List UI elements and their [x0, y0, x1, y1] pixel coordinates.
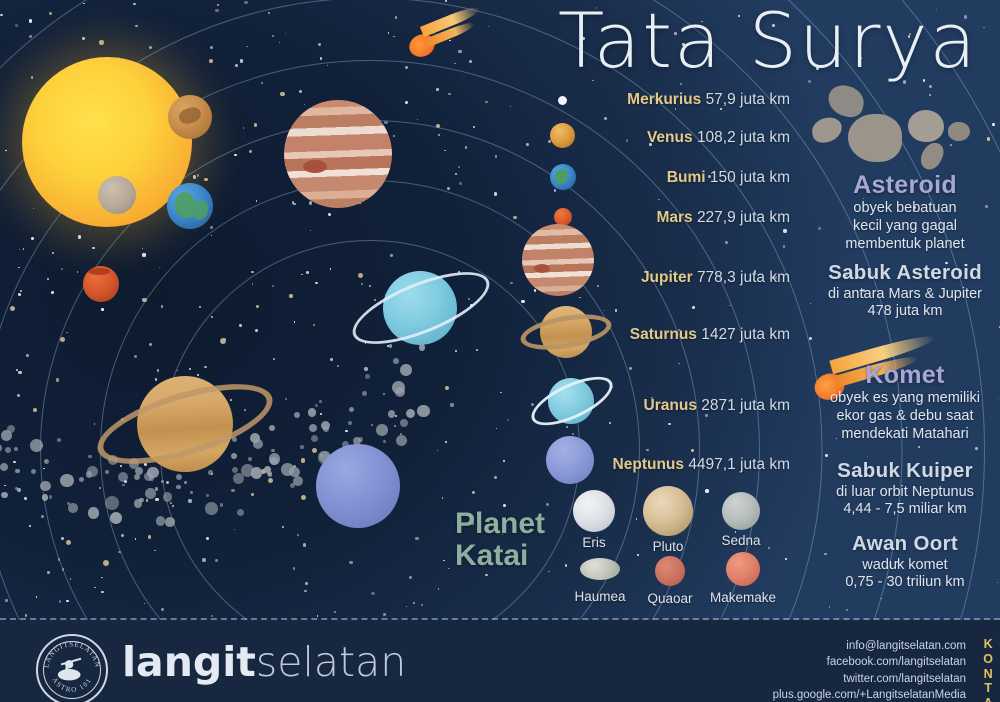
- sabuk-asteroid-body: di antara Mars & Jupiter 478 juta km: [812, 286, 998, 321]
- section-sabuk-kuiper: Sabuk Kuiper di luar orbit Neptunus 4,44…: [812, 460, 998, 519]
- planet-jupiter-illustration: [284, 100, 392, 208]
- infographic-poster: Tata Surya Merkurius 57,9 juta km Venus …: [0, 0, 1000, 702]
- contact-item[interactable]: info@langitselatan.com: [773, 638, 966, 654]
- planet-name: Bumi: [667, 169, 706, 186]
- awan-oort-heading: Awan Oort: [812, 533, 998, 555]
- planet-name: Uranus: [644, 397, 697, 414]
- contact-item[interactable]: plus.google.com/+LangitselatanMedia: [773, 687, 966, 702]
- planet-name: Jupiter: [641, 269, 693, 286]
- asteroid-heading: Asteroid: [812, 172, 998, 198]
- page-title: Tata Surya: [558, 0, 978, 85]
- planet-distance: 4497,1 juta km: [688, 456, 790, 473]
- dwarf-planets-title: Planet Katai: [455, 508, 545, 573]
- dwarf-planet-quaoar: Quaoar: [639, 556, 701, 606]
- venus-icon: [550, 123, 575, 148]
- planet-name: Merkurius: [627, 91, 701, 108]
- awan-oort-body: waduk komet 0,75 - 30 triliun km: [812, 557, 998, 592]
- komet-heading: Komet: [812, 362, 998, 388]
- planet-neptune-illustration: [316, 444, 400, 528]
- brand-light: selatan: [256, 638, 406, 686]
- planet-name: Venus: [647, 129, 693, 146]
- dwarf-planet-label: Sedna: [709, 533, 773, 548]
- jupiter-icon: [522, 224, 594, 296]
- dwarf-planet-haumea: Haumea: [568, 558, 632, 604]
- sabuk-kuiper-body: di luar orbit Neptunus 4,44 - 7,5 miliar…: [812, 484, 998, 519]
- mars-polar-cap: [88, 268, 110, 275]
- planet-name: Saturnus: [630, 326, 697, 343]
- section-sabuk-asteroid: Sabuk Asteroid di antara Mars & Jupiter …: [812, 262, 998, 321]
- neptunus-icon: [546, 436, 594, 484]
- dwarf-planet-label: Quaoar: [639, 591, 701, 606]
- quaoar-icon: [655, 556, 685, 586]
- planet-distance: 150 juta km: [710, 169, 790, 186]
- jupiter-great-red-spot: [303, 160, 327, 173]
- komet-body: obyek es yang memiliki ekor gas & debu s…: [812, 390, 998, 443]
- dwarf-planet-label: Makemake: [706, 590, 780, 605]
- contact-list: info@langitselatan.com facebook.com/lang…: [773, 638, 966, 702]
- dwarf-planet-label: Eris: [563, 535, 625, 550]
- brand-wordmark: langitselatan: [122, 642, 406, 683]
- langitselatan-seal-logo: LANGITSELATAN ASTRO 101: [36, 634, 108, 702]
- kontak-vertical-label: KONTAK: [983, 637, 994, 702]
- planet-distance: 778,3 juta km: [697, 269, 790, 286]
- sabuk-asteroid-heading: Sabuk Asteroid: [812, 262, 998, 284]
- dwarf-planet-pluto: Pluto: [635, 486, 701, 554]
- planet-distance: 108,2 juta km: [697, 129, 790, 146]
- asteroid-body: obyek bebatuan kecil yang gagal membentu…: [812, 200, 998, 253]
- section-asteroid: Asteroid obyek bebatuan kecil yang gagal…: [812, 172, 998, 253]
- planet-distance: 1427 juta km: [701, 326, 790, 343]
- planet-mercury-illustration: [98, 176, 136, 214]
- planet-distance: 2871 juta km: [701, 397, 790, 414]
- dwarf-planet-label: Haumea: [568, 589, 632, 604]
- brand-bold: langit: [122, 638, 256, 686]
- merkurius-icon: [558, 96, 567, 105]
- dwarf-planet-sedna: Sedna: [709, 492, 773, 548]
- contact-item[interactable]: twitter.com/langitselatan: [773, 671, 966, 687]
- dwarf-planet-makemake: Makemake: [706, 552, 780, 605]
- planet-name: Neptunus: [613, 456, 684, 473]
- jupiter-red-spot-icon: [534, 264, 550, 273]
- planet-distance: 227,9 juta km: [697, 209, 790, 226]
- planet-name: Mars: [656, 209, 692, 226]
- section-awan-oort: Awan Oort waduk komet 0,75 - 30 triliun …: [812, 533, 998, 592]
- footer: LANGITSELATAN ASTRO 101 langitselatan in…: [0, 620, 1000, 702]
- makemake-icon: [726, 552, 760, 586]
- dwarf-planet-label: Pluto: [635, 539, 701, 554]
- planet-distance: 57,9 juta km: [706, 91, 790, 108]
- seal-emblem-icon: [58, 658, 81, 681]
- sabuk-kuiper-heading: Sabuk Kuiper: [812, 460, 998, 482]
- pluto-icon: [643, 486, 693, 536]
- eris-icon: [573, 490, 615, 532]
- dwarf-planet-eris: Eris: [563, 490, 625, 550]
- haumea-icon: [580, 558, 620, 580]
- section-komet: Komet obyek es yang memiliki ekor gas & …: [812, 362, 998, 443]
- sedna-icon: [722, 492, 760, 530]
- asteroid-cluster-illustration: [812, 84, 998, 174]
- contact-item[interactable]: facebook.com/langitselatan: [773, 654, 966, 670]
